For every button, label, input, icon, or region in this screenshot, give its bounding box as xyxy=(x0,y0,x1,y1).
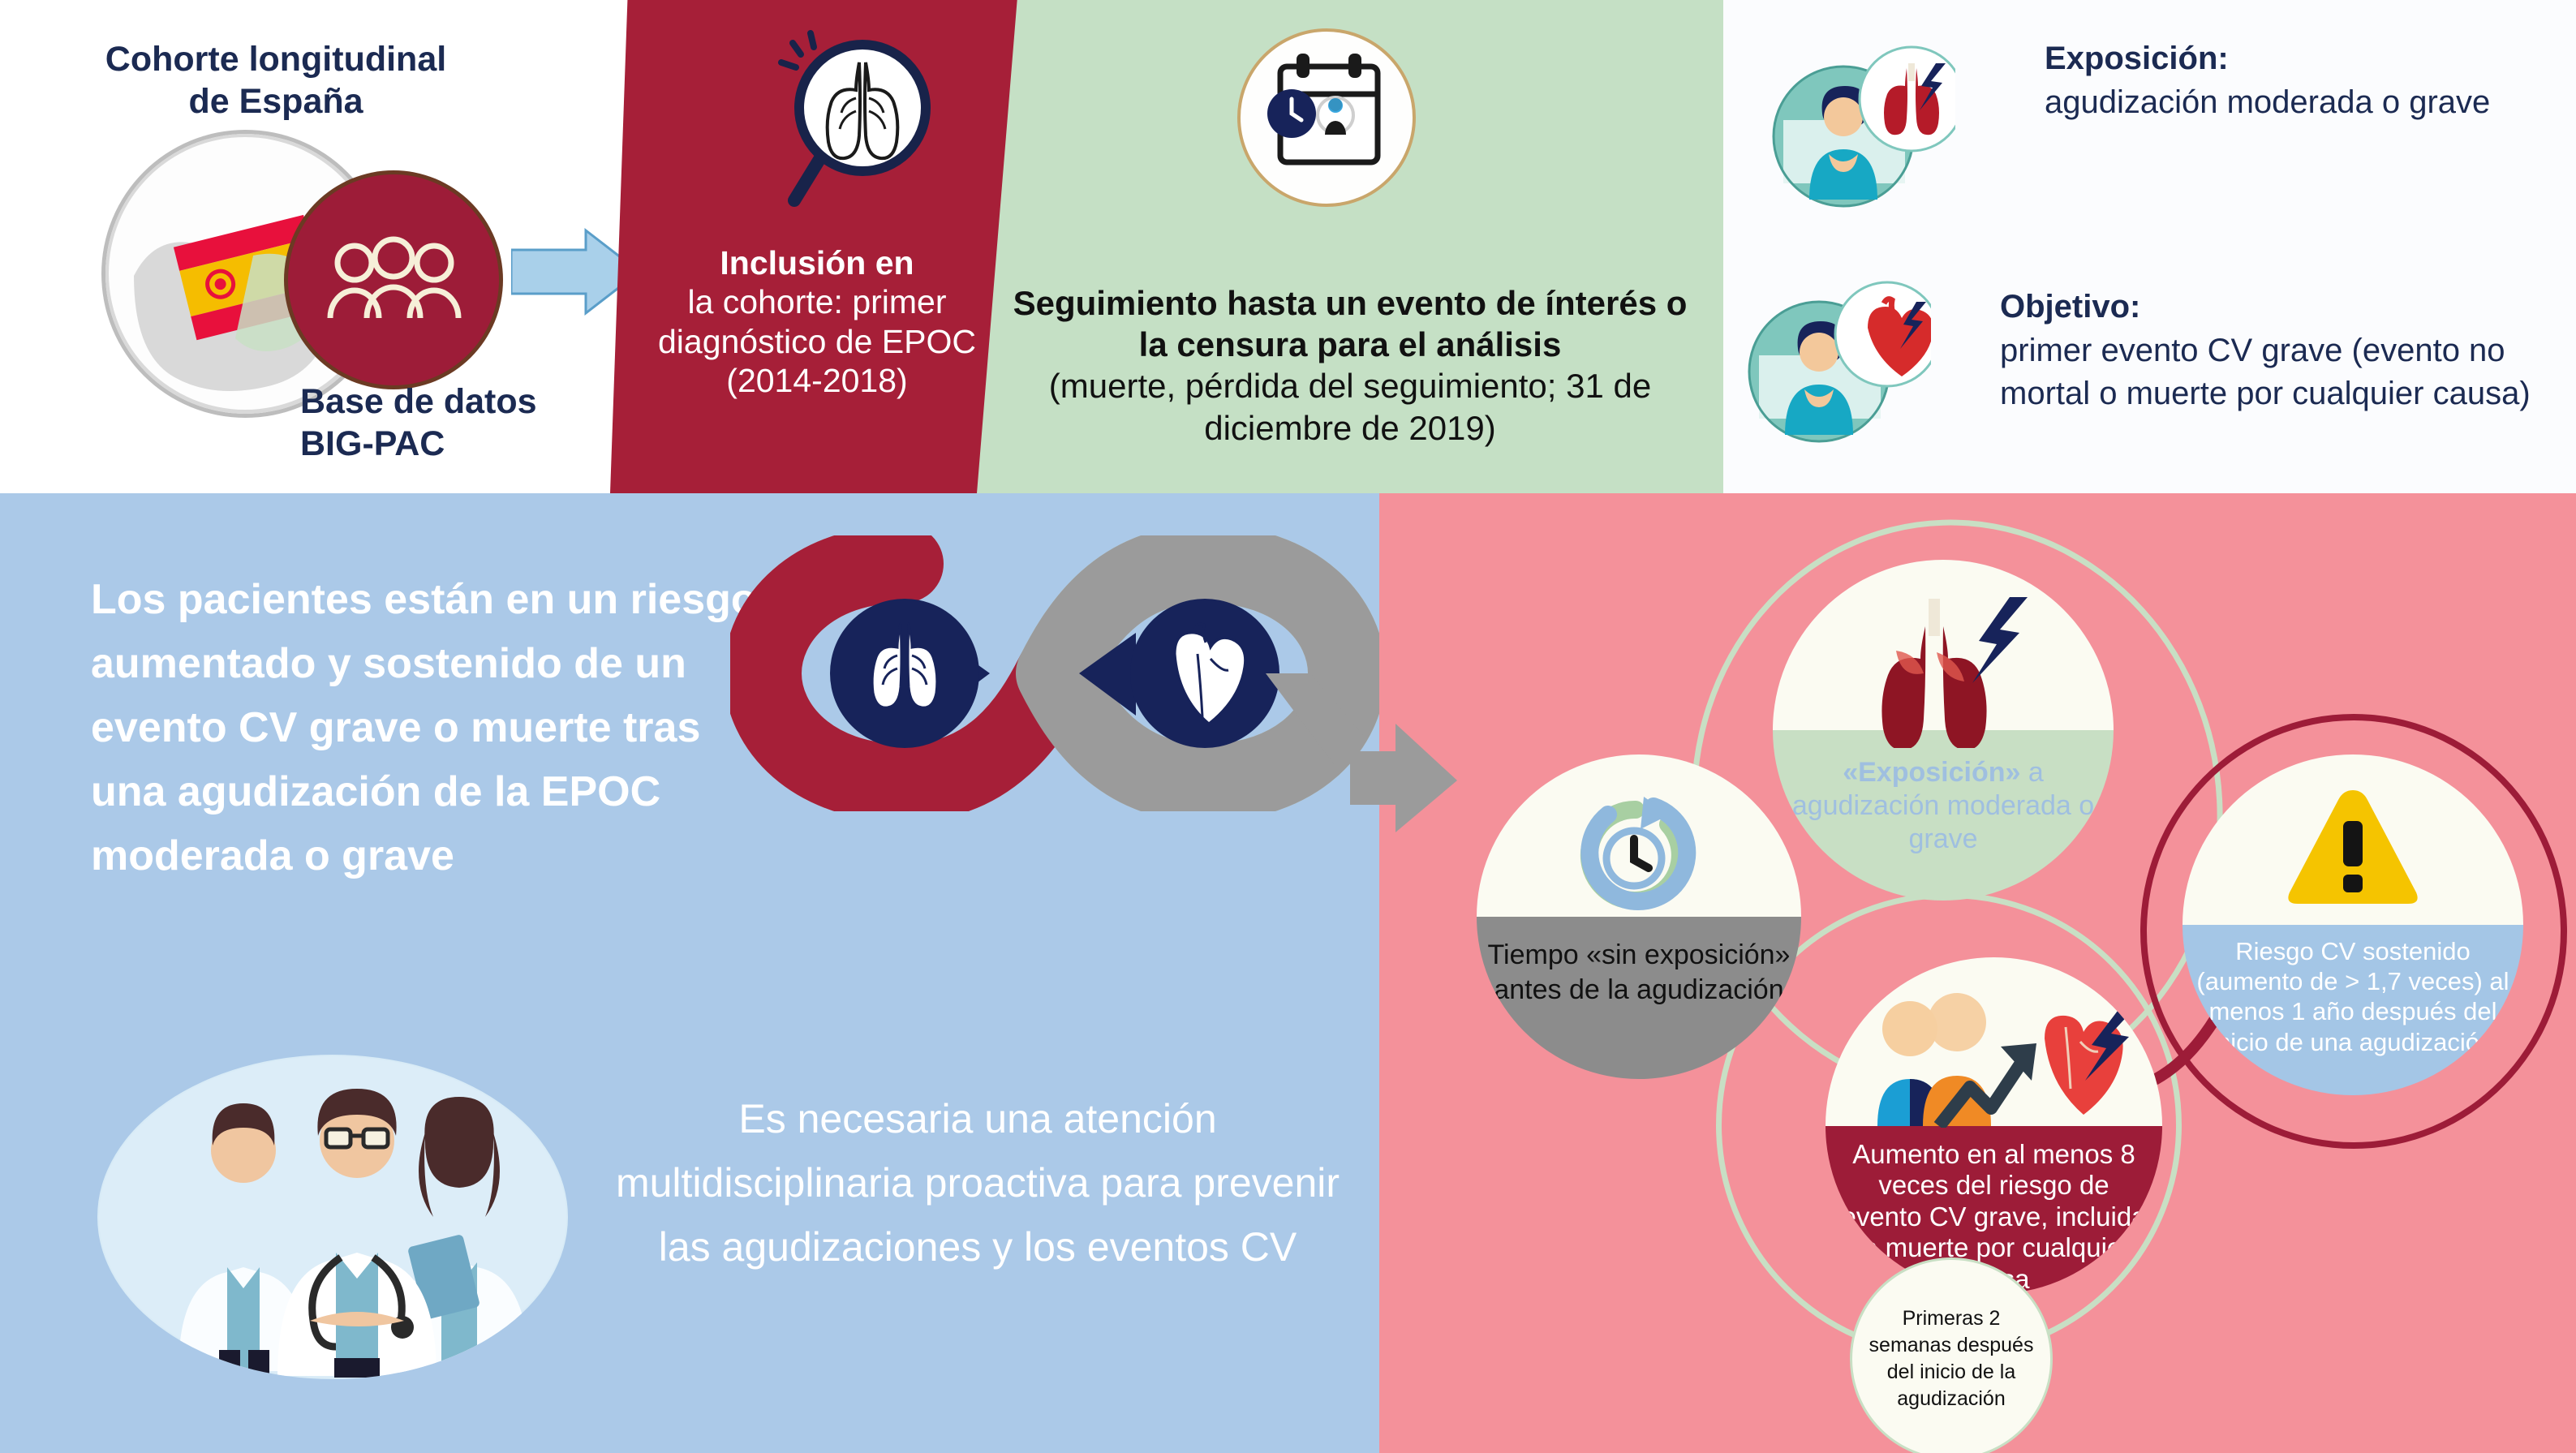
objective-label: Objetivo: xyxy=(2000,289,2140,325)
page-title-cohort: Cohorte longitudinal de España xyxy=(32,39,519,123)
circle-riesgo-caption: Riesgo CV sostenido (aumento de > 1,7 ve… xyxy=(2183,925,2523,1095)
magnifier-lungs-icon xyxy=(775,20,933,215)
circle-tiempo-caption: Tiempo «sin exposición» antes de la agud… xyxy=(1477,917,1801,1079)
circle-exposicion-caption: «Exposición» a agudización moderada o gr… xyxy=(1773,730,2114,901)
warning-triangle-icon xyxy=(2280,785,2426,915)
conclusion-headline: Los pacientes están en un riesgo aumenta… xyxy=(91,568,764,888)
panel-followup-subtitle: (muerte, pérdida del seguimiento; 31 de … xyxy=(1001,365,1699,448)
panel-inclusion-subtitle: la cohorte: primer diagnóstico de EPOC (… xyxy=(621,282,1013,400)
clock-cycle-icon xyxy=(1555,793,1725,923)
exposure-label: Exposición: xyxy=(2045,41,2229,76)
cohort-title-line1: Cohorte longitudinal xyxy=(32,39,519,81)
panel-followup-text: Seguimiento hasta un evento de ínterés o… xyxy=(977,282,1723,449)
cohort-title-line2: de España xyxy=(32,81,519,123)
circle-riesgo-caption-text: Riesgo CV sostenido (aumento de > 1,7 ve… xyxy=(2196,937,2509,1056)
people-group-icon xyxy=(312,227,475,333)
circle-primeras-caption: Primeras 2 semanas después del inicio de… xyxy=(1869,1305,2034,1412)
panel-inclusion-title: Inclusión en xyxy=(621,243,1013,282)
patients-heart-arrow-icon xyxy=(1856,990,2132,1128)
patient-lungs-icon xyxy=(1769,32,1955,219)
lungs-lightning-icon xyxy=(1851,594,2037,748)
exposure-block: Exposición: agudización moderada o grave xyxy=(2045,37,2572,124)
exposure-text: agudización moderada o grave xyxy=(2045,81,2572,125)
objective-text: primer evento CV grave (evento no mortal… xyxy=(2000,329,2576,416)
circle-riesgo-cv-sostenido: Riesgo CV sostenido (aumento de > 1,7 ve… xyxy=(2183,754,2523,1095)
circle-aumento-riesgo: Aumento en al menos 8 veces del riesgo d… xyxy=(1826,957,2162,1294)
infographic-canvas: Cohorte longitudinal de España Base de d… xyxy=(0,0,2576,1453)
calendar-clock-icon xyxy=(1233,24,1420,211)
circle-exposicion-caption-bold: «Exposición» xyxy=(1843,757,2020,788)
circle-primeras-semanas: Primeras 2 semanas después del inicio de… xyxy=(1850,1257,2053,1453)
conclusion-subtext: Es necesaria una atención multidisciplin… xyxy=(600,1087,1355,1279)
objective-block: Objetivo: primer evento CV grave (evento… xyxy=(2000,286,2576,416)
circle-exposicion: «Exposición» a agudización moderada o gr… xyxy=(1773,560,2114,901)
panel-followup-title: Seguimiento hasta un evento de ínterés o… xyxy=(1001,282,1699,365)
patients-group-circle xyxy=(288,174,499,385)
circle-tiempo-sin-exposicion: Tiempo «sin exposición» antes de la agud… xyxy=(1477,754,1801,1079)
patient-heart-icon xyxy=(1744,268,1931,454)
panel-inclusion-text: Inclusión en la cohorte: primer diagnóst… xyxy=(610,243,1024,401)
circle-riesgo-caption-tail: n xyxy=(2479,1028,2495,1056)
medical-team-icon xyxy=(97,1055,568,1379)
